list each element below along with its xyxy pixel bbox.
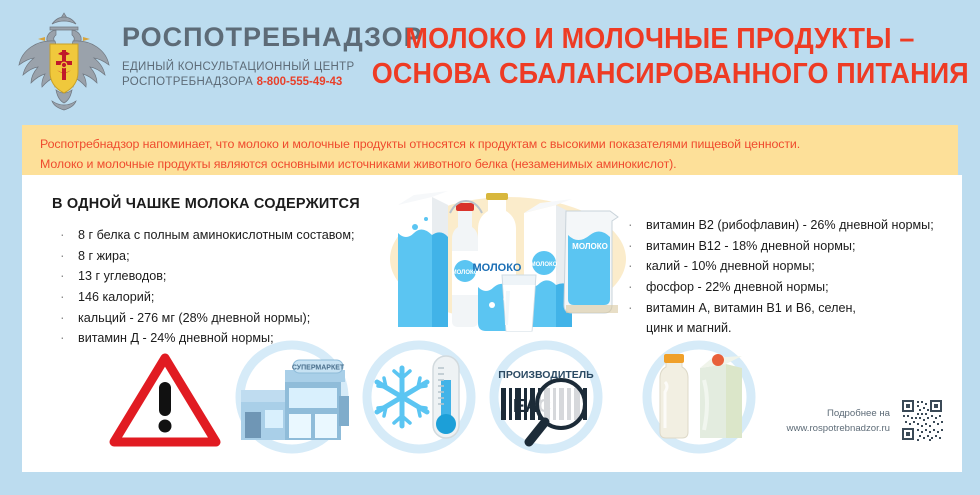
hotline-phone: 8-800-555-49-43 — [257, 76, 343, 88]
section-title: В ОДНОЙ ЧАШКЕ МОЛОКА СОДЕРЖИТСЯ — [52, 196, 360, 212]
reminder-line-2: Молоко и молочные продукты являются осно… — [40, 154, 940, 174]
bottle-carton-icon — [634, 338, 764, 456]
nutrition-list-left: 8 г белка с полным аминокислотным состав… — [56, 225, 376, 349]
brand-subtitle-line2-text: РОСПОТРЕБНАДЗОРА — [122, 76, 253, 88]
manufacturer-barcode-magnifier-icon: ПРОИЗВОДИТЕЛЬ EAC — [481, 338, 611, 456]
milk-products-illustration: МОЛОКО МОЛОКО — [380, 187, 636, 337]
more-info-line1: Подробнее на — [787, 407, 890, 421]
svg-text:МОЛОКО: МОЛОКО — [473, 262, 522, 274]
svg-text:МОЛОКО: МОЛОКО — [531, 262, 558, 268]
page-title-line1: МОЛОКО И МОЛОЧНЫЕ ПРОДУКТЫ – — [372, 22, 949, 57]
reminder-line-1: Роспотребнадзор напоминает, что молоко и… — [40, 134, 940, 154]
infographic-page: РОСПОТРЕБНАДЗОР ЕДИНЫЙ КОНСУЛЬТАЦИОННЫЙ … — [0, 0, 980, 495]
list-item: 8 г жира; — [56, 246, 376, 267]
supermarket-icon: СУПЕРМАРКЕТ — [227, 338, 357, 456]
list-item: 146 калорий; — [56, 287, 376, 308]
content-panel: В ОДНОЙ ЧАШКЕ МОЛОКА СОДЕРЖИТСЯ 8 г белк… — [22, 175, 962, 472]
double-headed-eagle-emblem — [12, 8, 116, 116]
reminder-banner: Роспотребнадзор напоминает, что молоко и… — [22, 125, 958, 175]
list-item: кальций - 276 мг (28% дневной нормы); — [56, 308, 376, 329]
advice-icon-row: СУПЕРМАРКЕТ — [22, 338, 962, 456]
page-header: РОСПОТРЕБНАДЗОР ЕДИНЫЙ КОНСУЛЬТАЦИОННЫЙ … — [0, 0, 980, 125]
warning-triangle-icon — [100, 338, 230, 456]
nutrition-list-right: витамин В2 (рибофлавин) - 26% дневной но… — [624, 215, 964, 339]
snowflake-thermometer-icon — [354, 338, 484, 456]
list-item: витамин В12 - 18% дневной нормы; — [624, 236, 964, 257]
svg-text:ПРОИЗВОДИТЕЛЬ: ПРОИЗВОДИТЕЛЬ — [498, 369, 594, 381]
page-title: МОЛОКО И МОЛОЧНЫЕ ПРОДУКТЫ – ОСНОВА СБАЛ… — [350, 22, 970, 93]
svg-text:МОЛОКО: МОЛОКО — [572, 242, 608, 251]
list-item: витамин А, витамин В1 и В6, селен, — [624, 298, 964, 319]
list-item: витамин В2 (рибофлавин) - 26% дневной но… — [624, 215, 964, 236]
qr-code — [900, 398, 944, 442]
list-item: калий - 10% дневной нормы; — [624, 256, 964, 277]
more-info-line2: www.rospotrebnadzor.ru — [787, 422, 890, 436]
list-item: 8 г белка с полным аминокислотным состав… — [56, 225, 376, 246]
page-title-line2: ОСНОВА СБАЛАНСИРОВАННОГО ПИТАНИЯ — [372, 57, 949, 92]
list-item-continued: цинк и магний. — [624, 318, 964, 339]
list-item: фосфор - 22% дневной нормы; — [624, 277, 964, 298]
svg-text:СУПЕРМАРКЕТ: СУПЕРМАРКЕТ — [292, 365, 345, 372]
more-info-text: Подробнее на www.rospotrebnadzor.ru — [787, 407, 890, 436]
list-item: 13 г углеводов; — [56, 266, 376, 287]
